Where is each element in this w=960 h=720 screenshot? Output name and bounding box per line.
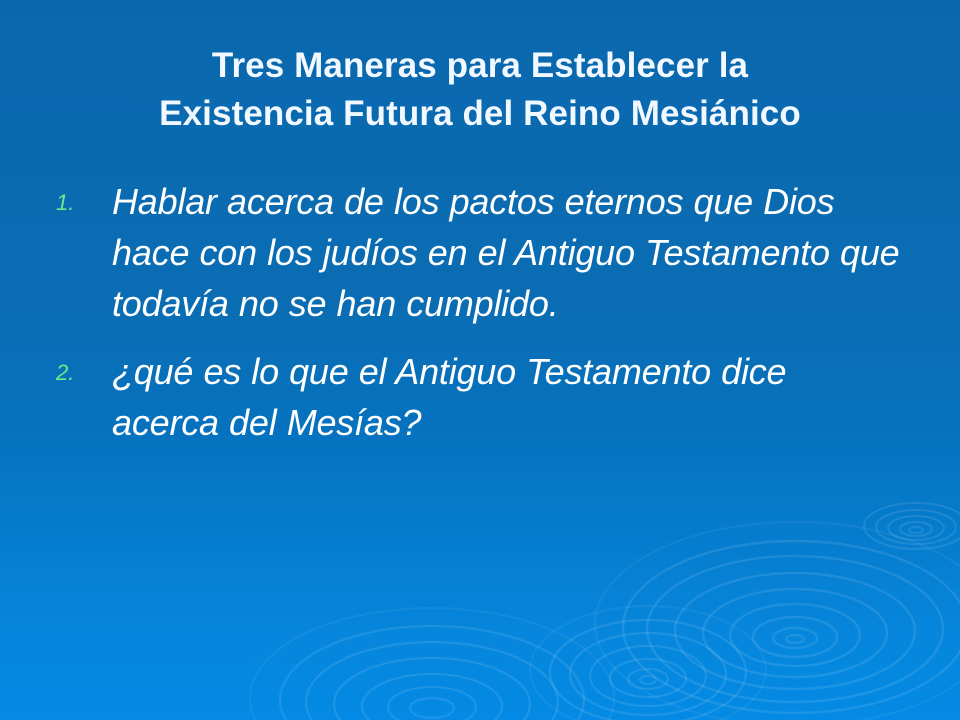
slide-title-line-2: Existencia Futura del Reino Mesiánico	[50, 90, 910, 138]
list-item-number: 1.	[56, 192, 96, 214]
list-item: 1. Hablar acerca de los pactos eternos q…	[52, 176, 902, 329]
ripple-medium-center	[550, 620, 746, 720]
slide-title: Tres Maneras para Establecer la Existenc…	[50, 42, 910, 138]
list-item-number: 2.	[56, 362, 96, 384]
slide-title-line-1: Tres Maneras para Establecer la	[50, 42, 910, 90]
ripple-faint-arcs	[250, 522, 960, 720]
ripple-bottom-left	[280, 626, 584, 720]
ripple-large-right	[623, 541, 960, 713]
list-item-text: ¿qué es lo que el Antiguo Testamento dic…	[112, 346, 902, 448]
slide-body-list: 1. Hablar acerca de los pactos eternos q…	[52, 176, 902, 465]
list-item: 2. ¿qué es lo que el Antiguo Testamento …	[52, 346, 902, 448]
ripple-small-topright	[864, 503, 960, 549]
list-item-text: Hablar acerca de los pactos eternos que …	[112, 176, 902, 329]
presentation-slide: Tres Maneras para Establecer la Existenc…	[0, 0, 960, 720]
